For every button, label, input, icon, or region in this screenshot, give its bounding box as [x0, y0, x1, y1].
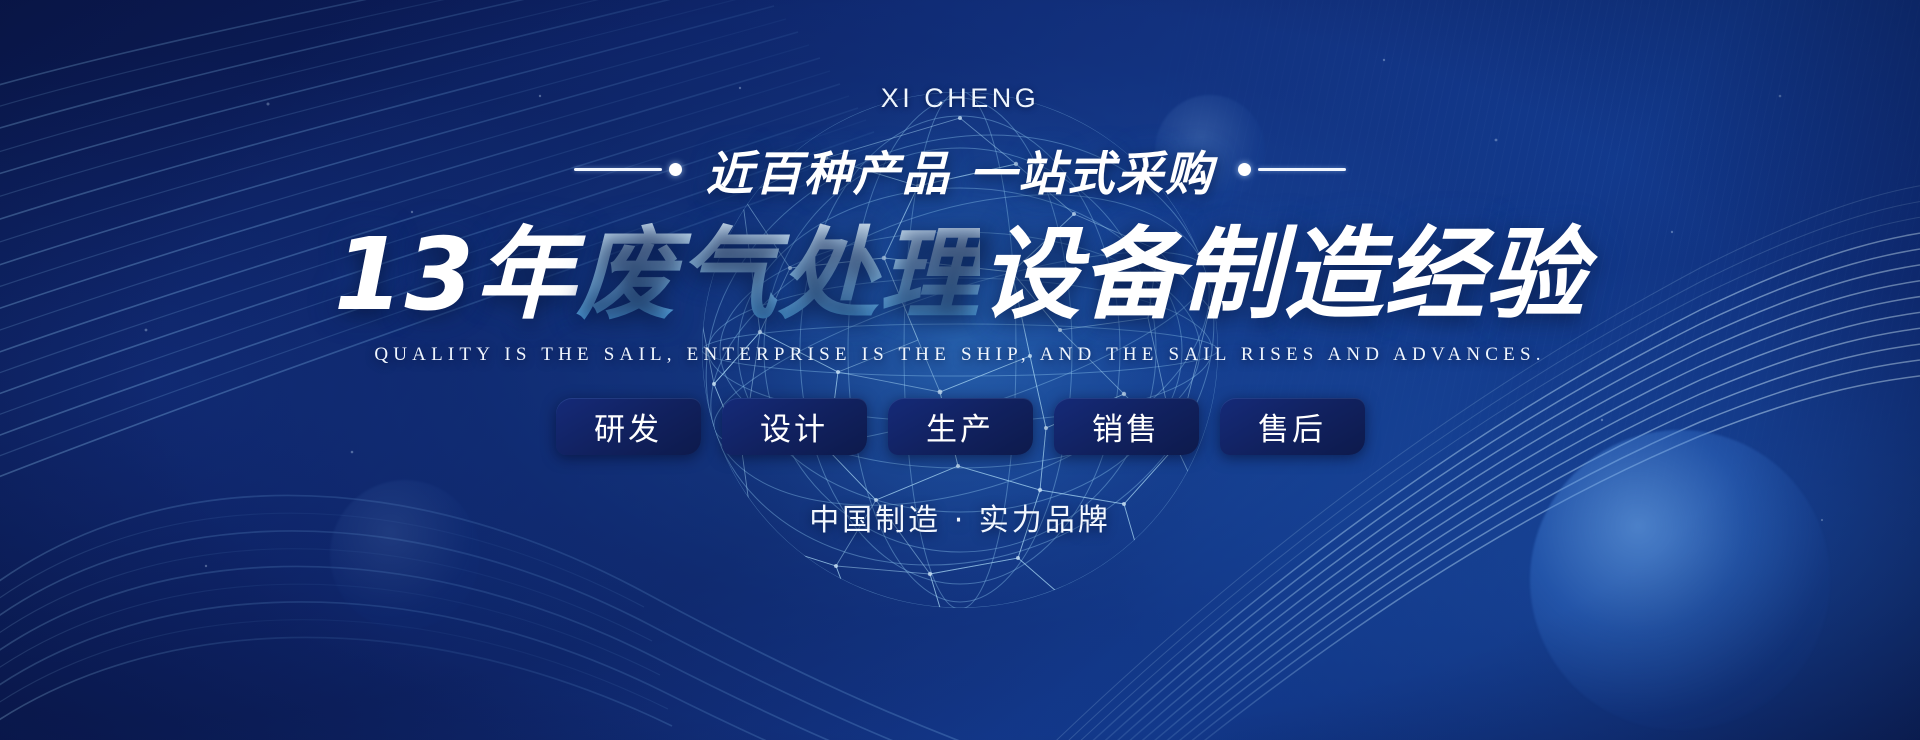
headline-accent: 废气处理: [576, 216, 980, 333]
decorative-line-left: [574, 163, 682, 176]
banner-headline: 13年废气处理设备制造经验: [334, 218, 1586, 332]
decorative-dot-left: [669, 163, 682, 176]
pill-research-development[interactable]: 研发: [556, 398, 701, 455]
pill-sales[interactable]: 销售: [1054, 398, 1199, 455]
banner-content: XI CHENG 近百种产品 一站式采购 13年废气处理设备制造经验 QUALI…: [0, 0, 1920, 740]
decorative-dot-right: [1238, 163, 1251, 176]
decorative-line-right: [1238, 163, 1346, 176]
banner-footnote: 中国制造 · 实力品牌: [809, 495, 1111, 539]
pill-after-sales[interactable]: 售后: [1220, 398, 1365, 455]
hero-banner: XI CHENG 近百种产品 一站式采购 13年废气处理设备制造经验 QUALI…: [0, 0, 1920, 740]
brand-kicker: XI CHENG: [881, 83, 1040, 114]
banner-subtitle: 近百种产品 一站式采购: [706, 135, 1214, 204]
english-tagline: QUALITY IS THE SAIL, ENTERPRISE IS THE S…: [374, 344, 1545, 366]
service-pill-row: 研发 设计 生产 销售 售后: [556, 398, 1365, 455]
decorative-bar-left: [574, 168, 662, 171]
decorative-bar-right: [1258, 168, 1346, 171]
pill-design[interactable]: 设计: [722, 398, 867, 455]
pill-production[interactable]: 生产: [888, 398, 1033, 455]
subtitle-row: 近百种产品 一站式采购: [574, 135, 1346, 204]
headline-tail: 设备制造经验: [980, 216, 1586, 333]
headline-lead: 13年: [334, 216, 576, 333]
